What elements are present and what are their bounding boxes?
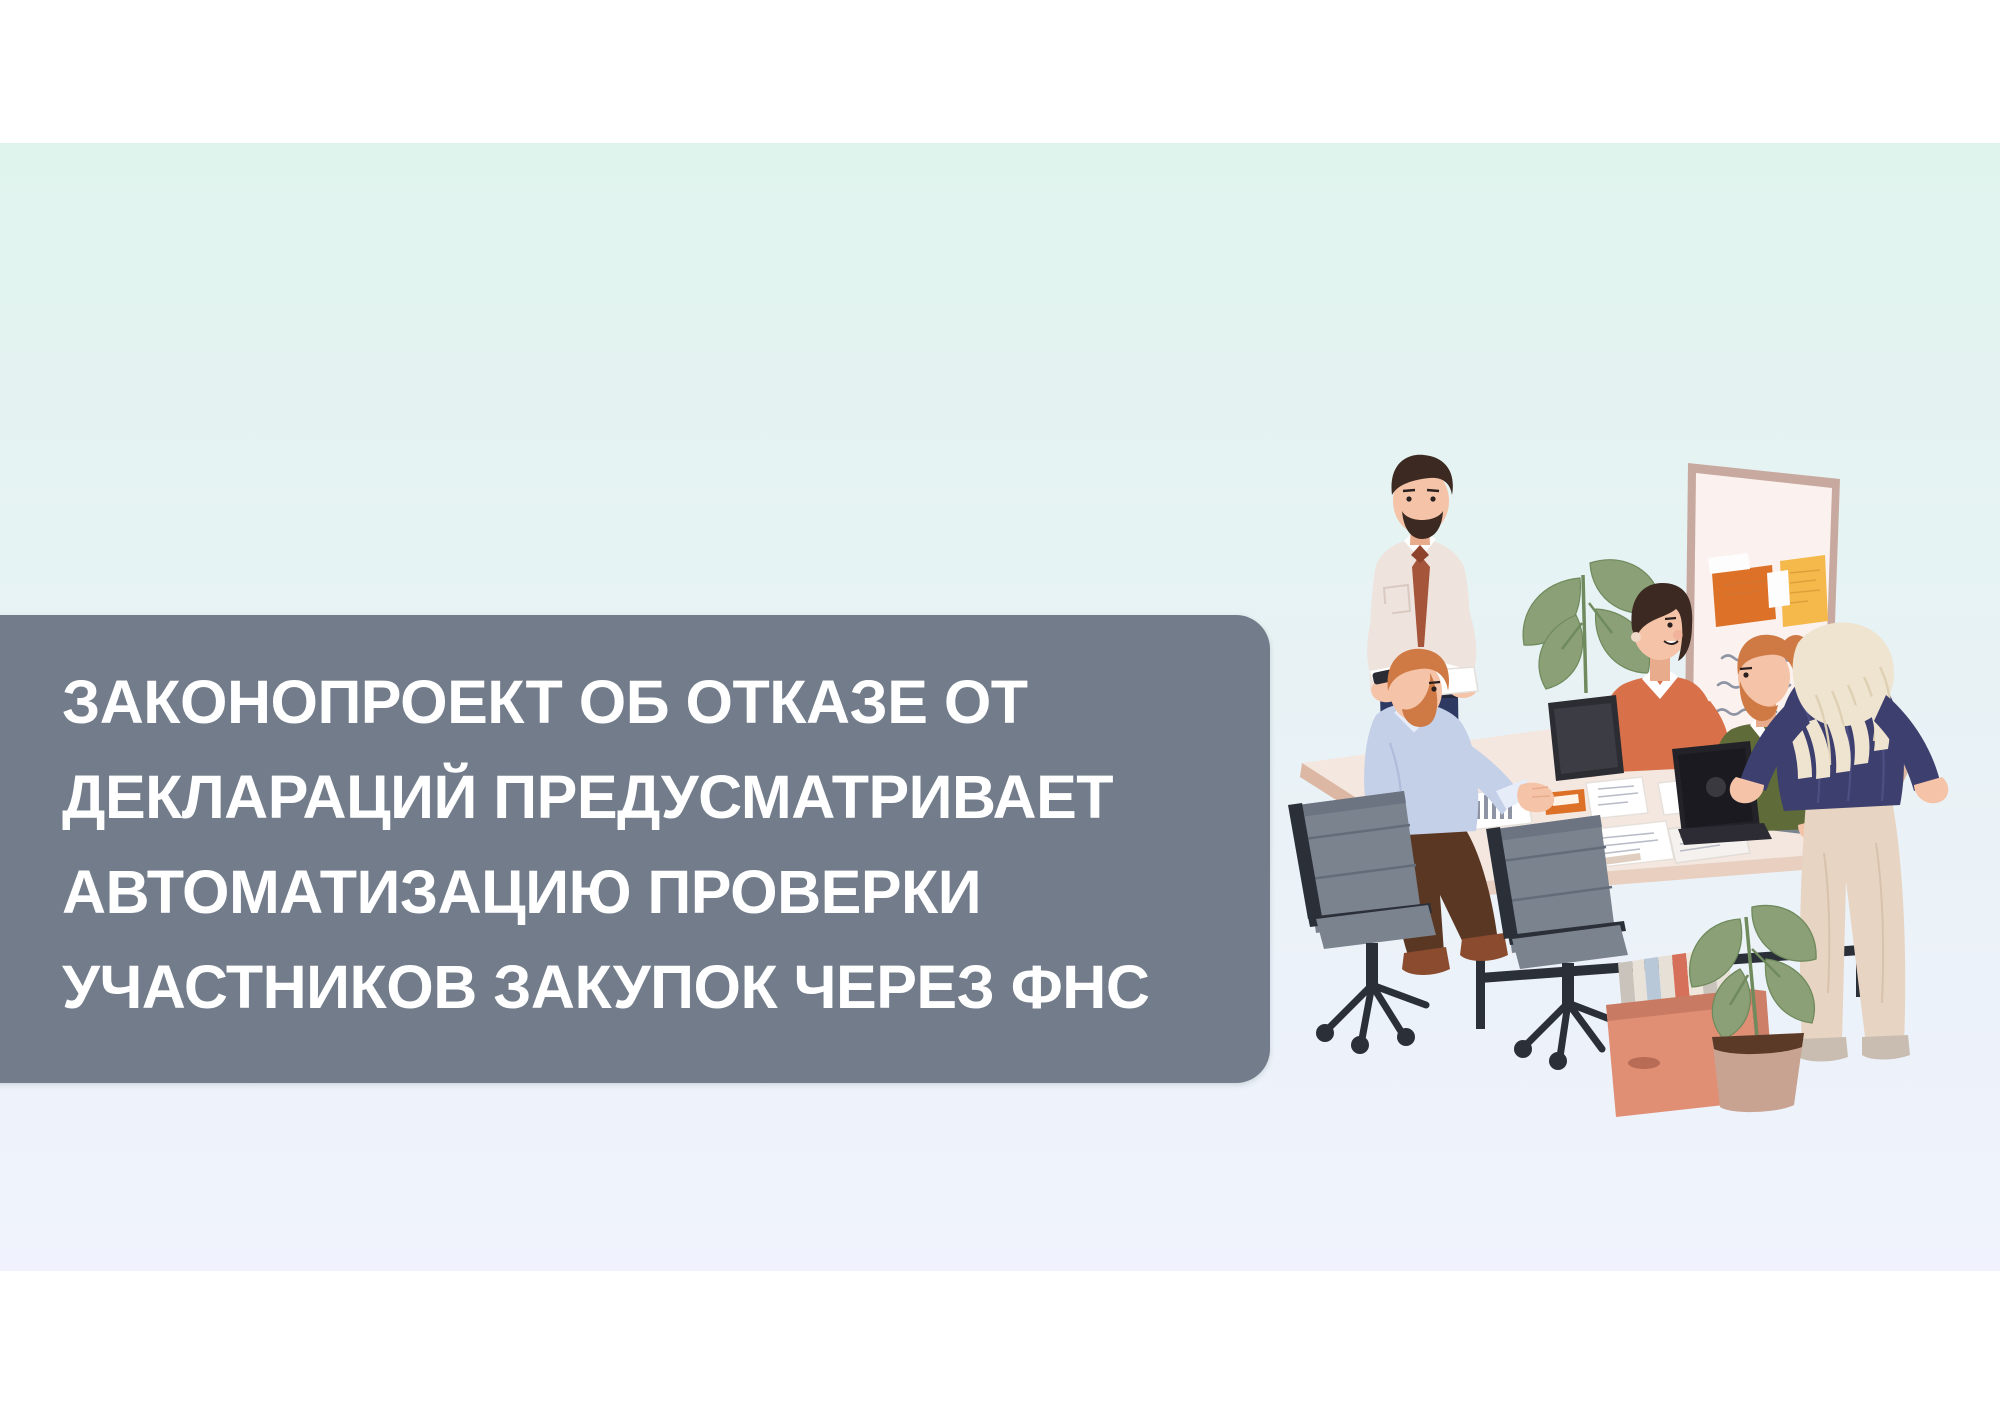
office-meeting-illustration: [1280, 433, 1980, 1153]
tablet-icon: [1548, 695, 1624, 781]
title-card: ЗАКОНОПРОЕКТ ОБ ОТКАЗЕ ОТ ДЕКЛАРАЦИЙ ПРЕ…: [0, 615, 1270, 1083]
poster-canvas: ЗАКОНОПРОЕКТ ОБ ОТКАЗЕ ОТ ДЕКЛАРАЦИЙ ПРЕ…: [0, 0, 2000, 1414]
page-title: ЗАКОНОПРОЕКТ ОБ ОТКАЗЕ ОТ ДЕКЛАРАЦИЙ ПРЕ…: [62, 655, 1192, 1035]
gradient-banner: ЗАКОНОПРОЕКТ ОБ ОТКАЗЕ ОТ ДЕКЛАРАЦИЙ ПРЕ…: [0, 143, 2000, 1271]
